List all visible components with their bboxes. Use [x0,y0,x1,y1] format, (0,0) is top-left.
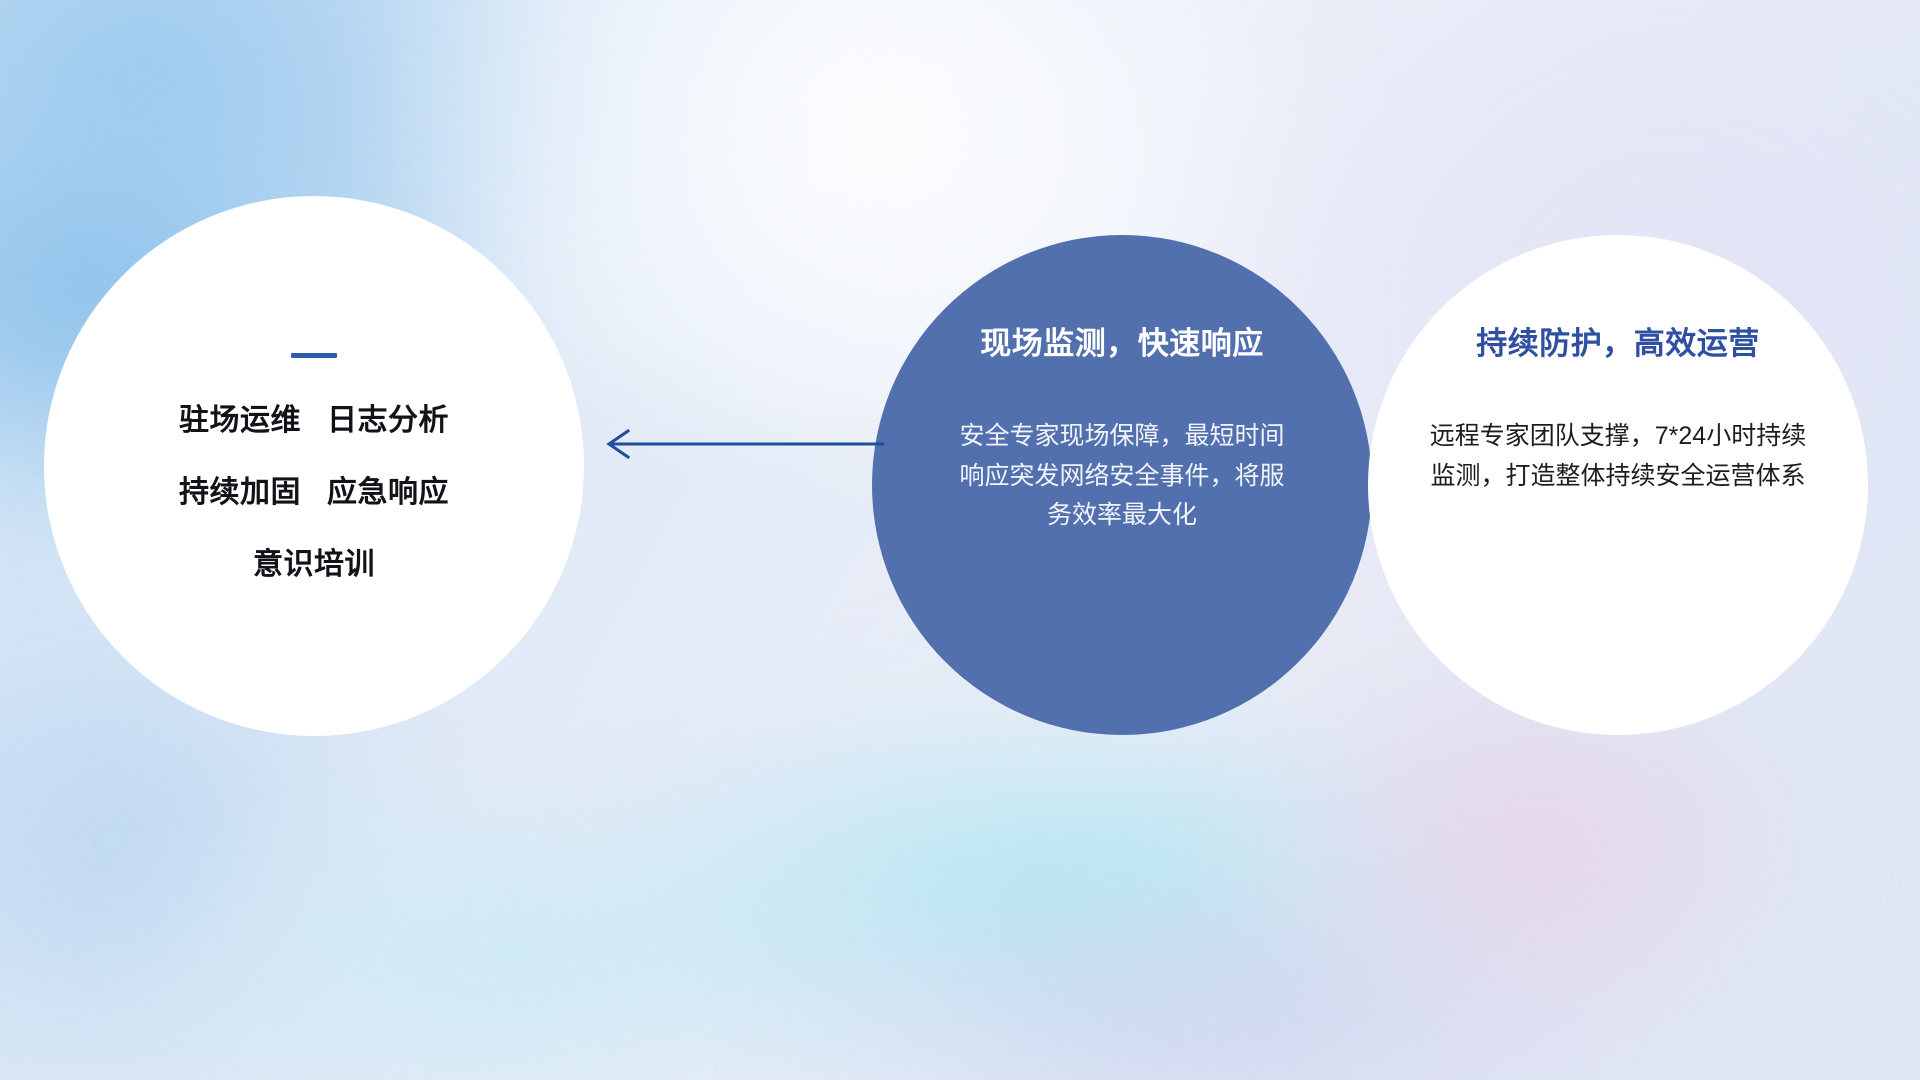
left-circle-line-1: 驻场运维日志分析 [179,406,449,436]
right-circle-title: 持续防护，高效运营 [1476,327,1760,361]
left-circle-line-3: 意识培训 [253,550,375,580]
left-circle-line-2: 持续加固应急响应 [179,478,449,508]
flow-arrow-icon [596,416,886,472]
left-circle-content: 驻场运维日志分析 持续加固应急响应 意识培训 [44,196,584,736]
right-circle-content: 持续防护，高效运营 远程专家团队支撑，7*24小时持续监测，打造整体持续安全运营… [1368,235,1868,735]
middle-circle-body: 安全专家现场保障，最短时间响应突发网络安全事件，将服务效率最大化 [957,417,1287,536]
left-tag-yingjixiangying: 应急响应 [327,476,449,509]
middle-circle-title: 现场监测，快速响应 [980,327,1264,361]
middle-circle-content: 现场监测，快速响应 安全专家现场保障，最短时间响应突发网络安全事件，将服务效率最… [872,235,1372,735]
left-tag-rizhifenxi: 日志分析 [327,404,449,437]
left-tag-zhuchangyunwei: 驻场运维 [179,404,301,437]
left-tag-chixujiagu: 持续加固 [179,476,301,509]
accent-dash [291,353,337,358]
right-circle-body: 远程专家团队支撑，7*24小时持续监测，打造整体持续安全运营体系 [1418,417,1818,496]
slide-canvas: 驻场运维日志分析 持续加固应急响应 意识培训 现场监测，快速响应 安全专家现场保… [0,0,1920,1080]
left-tag-yishipeixun: 意识培训 [253,548,375,581]
